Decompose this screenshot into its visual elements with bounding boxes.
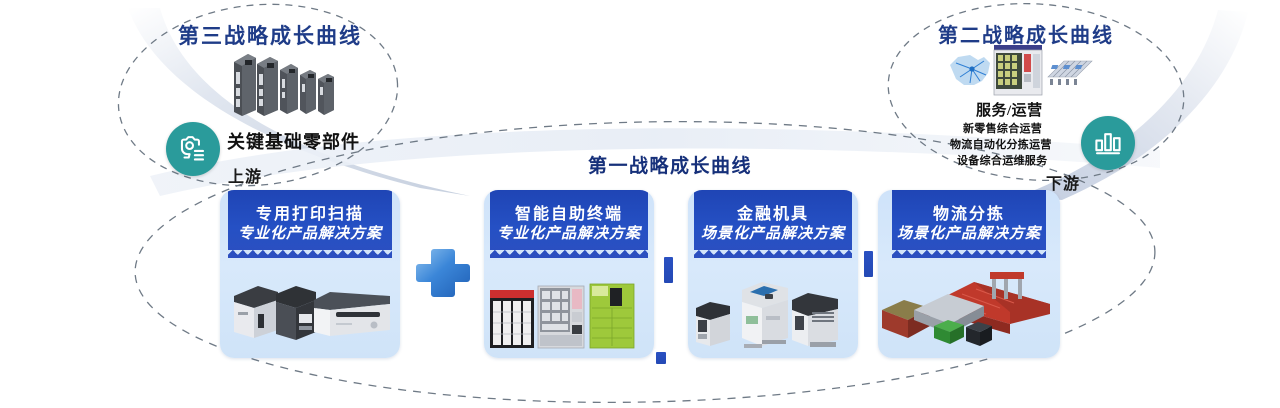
service-sub-item: 物流自动化分拣运营 (950, 136, 1052, 152)
service-sub-item: 设备综合运维服务 (957, 152, 1047, 168)
card-banner: 物流分拣 场景化产品解决方案 (892, 190, 1046, 258)
card-title: 专用打印扫描 (256, 206, 364, 224)
diagram-canvas: 第三战略成长曲线 (0, 0, 1280, 408)
card-title: 智能自助终端 (515, 206, 623, 224)
service-operations-image (944, 45, 1094, 100)
card-title: 金融机具 (737, 206, 809, 224)
gear-settings-icon[interactable] (166, 122, 220, 176)
card-banner: 金融机具 场景化产品解决方案 (694, 190, 852, 258)
first-curve-title: 第一战略成长曲线 (588, 151, 752, 178)
card-subtitle: 场景化产品解决方案 (897, 226, 1041, 243)
banner-zigzag-edge (694, 250, 852, 259)
servo-drive-image (232, 48, 352, 118)
card-banner: 智能自助终端 专业化产品解决方案 (490, 190, 648, 258)
product-image-sorting-line (878, 264, 1060, 352)
product-card-printing-scanning[interactable]: 专用打印扫描 专业化产品解决方案 (220, 190, 400, 358)
product-image-cash-machines (688, 264, 858, 352)
key-component-label: 关键基础零部件 (227, 128, 360, 154)
product-card-logistics-sorting[interactable]: 物流分拣 场景化产品解决方案 (878, 190, 1060, 358)
banner-zigzag-edge (490, 250, 648, 259)
plus-cross-icon (413, 243, 473, 303)
upstream-label: 上游 (228, 163, 262, 187)
bar-chart-icon[interactable] (1081, 116, 1135, 170)
third-curve-title: 第三战略成长曲线 (178, 20, 362, 50)
card-subtitle: 场景化产品解决方案 (701, 226, 845, 243)
service-heading: 服务/运营 (976, 99, 1043, 120)
second-curve-title: 第二战略成长曲线 (938, 19, 1114, 48)
product-image-printers (220, 264, 400, 352)
service-sub-item: 新零售综合运营 (963, 120, 1042, 136)
banner-zigzag-edge (228, 250, 392, 259)
product-image-kiosks (484, 264, 654, 352)
card-subtitle: 专业化产品解决方案 (497, 226, 641, 243)
card-connector-bar (656, 352, 666, 364)
card-banner: 专用打印扫描 专业化产品解决方案 (228, 190, 392, 258)
card-connector-bar (664, 257, 673, 283)
card-title: 物流分拣 (933, 206, 1005, 224)
banner-zigzag-edge (892, 250, 1046, 259)
product-card-self-service-terminal[interactable]: 智能自助终端 专业化产品解决方案 (484, 190, 654, 358)
card-connector-bar (864, 251, 873, 277)
card-subtitle: 专业化产品解决方案 (238, 226, 382, 243)
product-card-financial-machines[interactable]: 金融机具 场景化产品解决方案 (688, 190, 858, 358)
